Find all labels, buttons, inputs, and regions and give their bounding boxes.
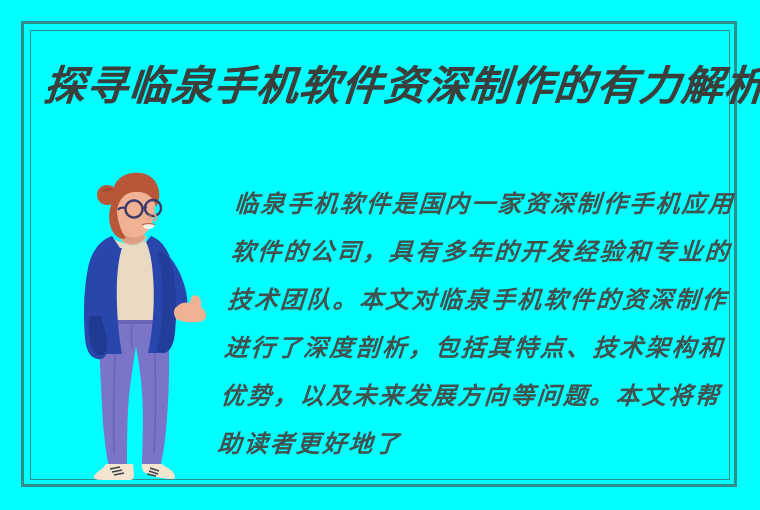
arm-right	[174, 303, 206, 323]
poster-canvas: 探寻临泉手机软件资深制作的有力解析 临泉手机软件是国内一家资深制作手机应用软件的…	[0, 0, 760, 510]
hair-bun	[97, 185, 117, 205]
cheek-blush	[146, 215, 152, 221]
person-illustration	[58, 168, 208, 480]
pants-fly	[131, 325, 132, 348]
body-paragraph: 临泉手机软件是国内一家资深制作手机应用软件的公司，具有多年的开发经验和专业的技术…	[216, 180, 736, 468]
page-title: 探寻临泉手机软件资深制作的有力解析	[42, 58, 731, 114]
nose	[154, 214, 156, 221]
